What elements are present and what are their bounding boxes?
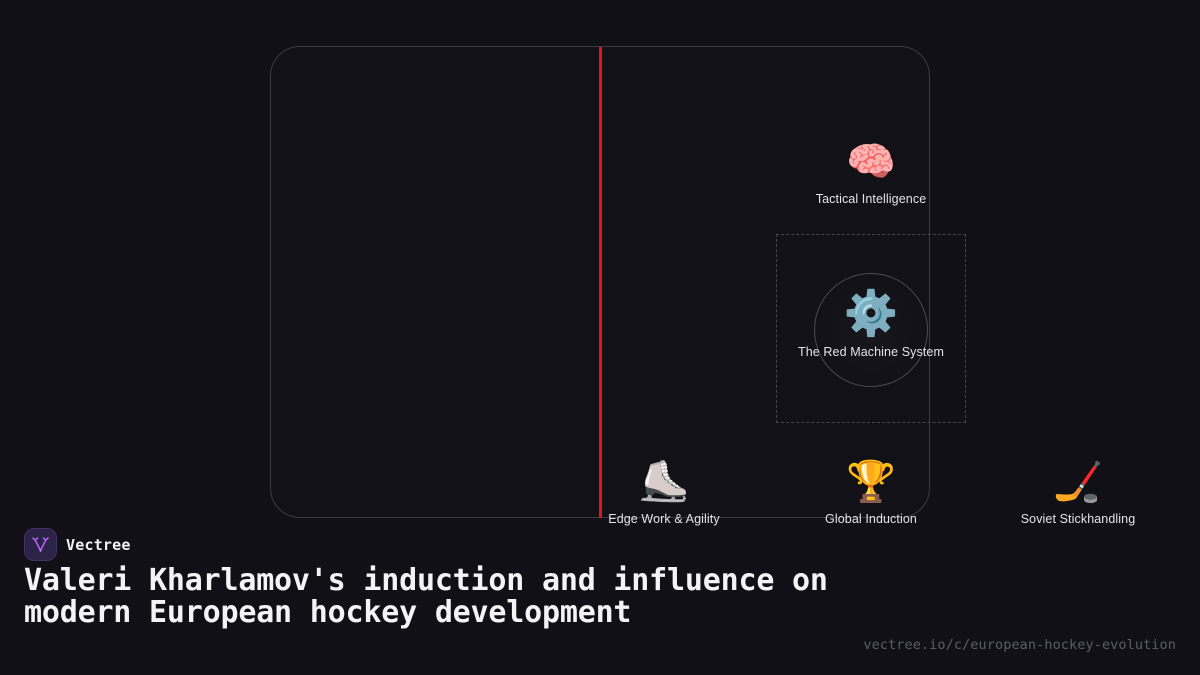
graph-node-global-induction[interactable]: 🏆 Global Induction	[771, 460, 971, 526]
brand-name: Vectree	[66, 536, 131, 554]
ice-skate-icon: ⛸️	[639, 460, 689, 504]
site-url: vectree.io/c/european-hockey-evolution	[863, 637, 1176, 653]
screenshot-root: 🧠 Tactical Intelligence ⚙️ The Red Machi…	[0, 0, 1200, 675]
trophy-icon: 🏆	[846, 460, 896, 504]
graph-node-edge-work-agility[interactable]: ⛸️ Edge Work & Agility	[564, 460, 764, 526]
brain-icon: 🧠	[846, 140, 896, 184]
brand-lockup[interactable]: Vectree	[24, 528, 131, 561]
graph-node-label: Global Induction	[825, 512, 917, 526]
vertical-axis-line	[599, 47, 602, 518]
graph-node-tactical-intelligence[interactable]: 🧠 Tactical Intelligence	[771, 140, 971, 206]
page-title: Valeri Kharlamov's induction and influen…	[24, 565, 864, 629]
footer: Vectree Valeri Kharlamov's induction and…	[0, 515, 1200, 675]
hockey-stick-icon: 🏒	[1053, 460, 1103, 504]
graph-node-red-machine-system[interactable]: ⚙️ The Red Machine System	[771, 291, 971, 359]
vectree-sprout-icon	[24, 528, 57, 561]
graph-node-label: Soviet Stickhandling	[1021, 512, 1136, 526]
gear-icon: ⚙️	[844, 291, 899, 337]
graph-node-label: Tactical Intelligence	[816, 192, 927, 206]
graph-node-soviet-stickhandling[interactable]: 🏒 Soviet Stickhandling	[978, 460, 1178, 526]
graph-node-label: The Red Machine System	[798, 345, 944, 359]
graph-node-label: Edge Work & Agility	[608, 512, 719, 526]
